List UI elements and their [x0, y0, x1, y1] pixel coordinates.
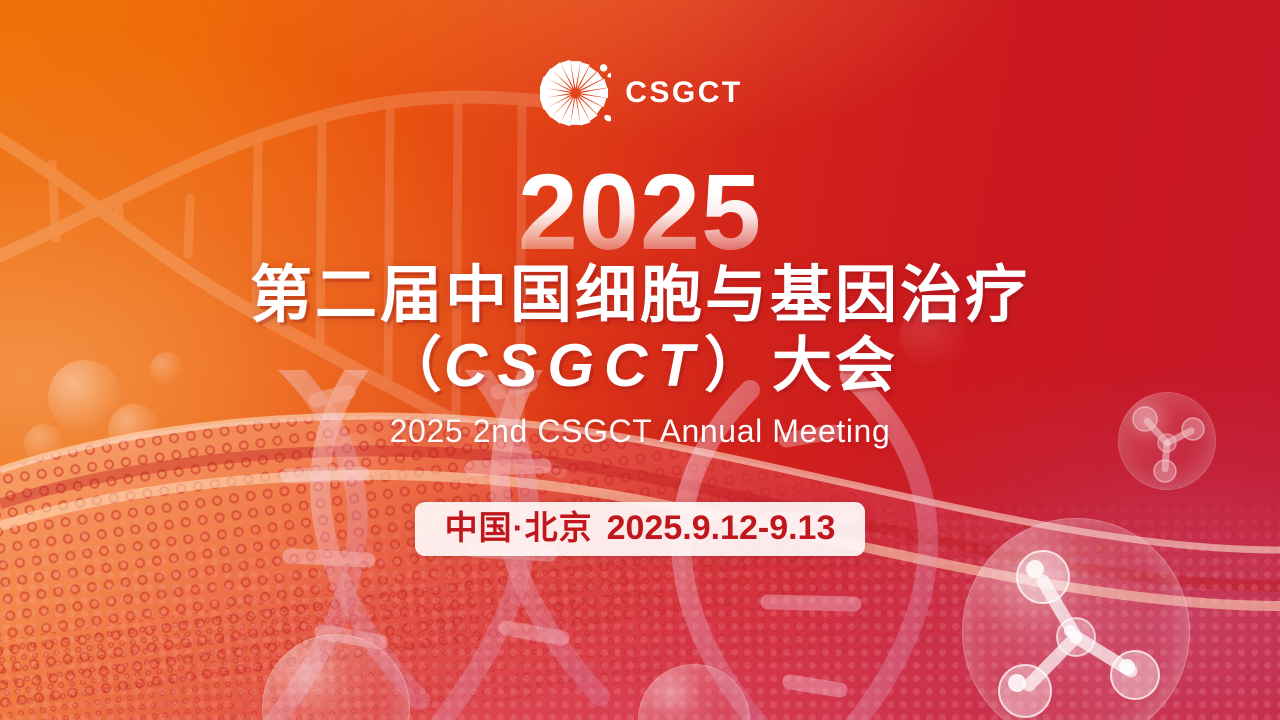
close-paren: ） — [704, 332, 766, 399]
conference-title-cn-line1: 第二届中国细胞与基因治疗 — [250, 263, 1030, 330]
csgct-logo-text: CSGCT — [625, 78, 743, 108]
conference-banner: CSGCT 2025 第二届中国细胞与基因治疗 （CSGCT）大会 2025 2… — [0, 0, 1280, 720]
starburst-logo-icon — [537, 56, 611, 130]
title-tail-cn: 大会 — [772, 332, 898, 399]
acronym-csgct: CSGCT — [444, 332, 704, 399]
csgct-logo: CSGCT — [537, 56, 743, 130]
date-range-text: 2025.9.12-9.13 — [607, 511, 836, 545]
banner-content: CSGCT 2025 第二届中国细胞与基因治疗 （CSGCT）大会 2025 2… — [0, 0, 1280, 720]
date-location-badge: 中国·北京 2025.9.12-9.13 — [415, 502, 866, 556]
open-paren: （ — [382, 332, 444, 399]
conference-title-cn-line2: （CSGCT）大会 — [382, 334, 898, 399]
year-heading: 2025 — [518, 162, 762, 261]
location-text: 中国·北京 — [445, 511, 593, 544]
conference-subtitle-en: 2025 2nd CSGCT Annual Meeting — [390, 413, 891, 450]
